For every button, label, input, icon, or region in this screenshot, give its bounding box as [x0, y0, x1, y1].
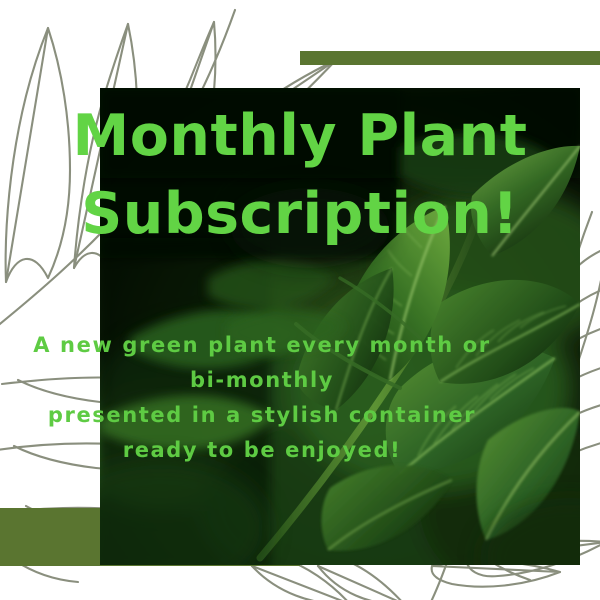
page-title: Monthly Plant Subscription!	[62, 98, 538, 253]
headline-line-1: Monthly Plant	[62, 98, 538, 176]
poster-text-layer: Monthly Plant Subscription! A new green …	[0, 0, 600, 600]
subcopy-line-1: A new green plant every month or	[0, 328, 524, 363]
subcopy-text: A new green plant every month or bi-mont…	[0, 328, 524, 468]
subcopy-line-2: bi-monthly	[0, 363, 524, 398]
headline-line-2: Subscription!	[62, 176, 538, 254]
subcopy-line-4: ready to be enjoyed!	[0, 433, 524, 468]
subcopy-line-3: presented in a stylish container	[0, 398, 524, 433]
poster-canvas: Monthly Plant Subscription! A new green …	[0, 0, 600, 600]
